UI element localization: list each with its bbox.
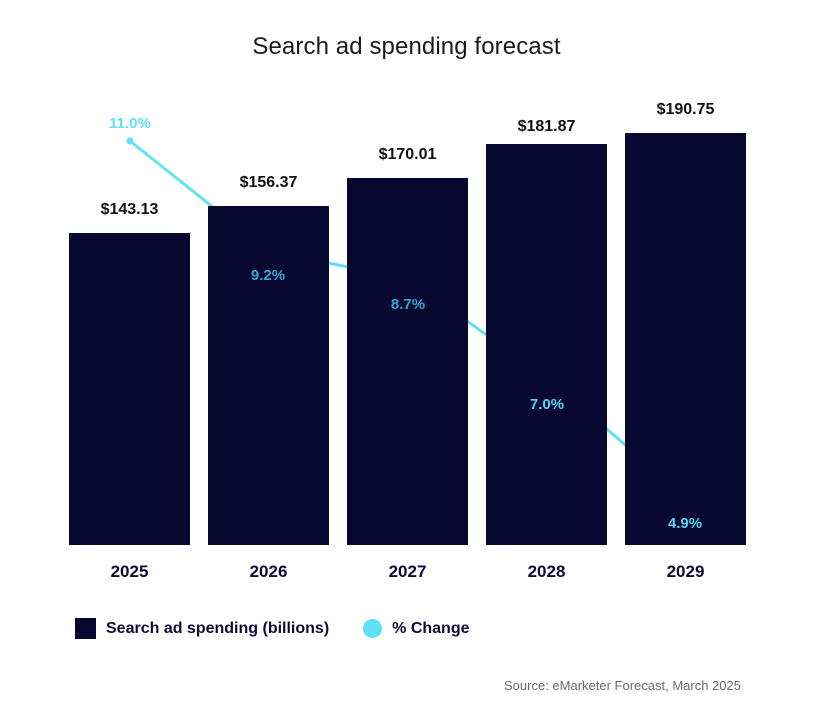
legend-item[interactable]: Search ad spending (billions) bbox=[75, 618, 329, 639]
percent-change-label: 9.2% bbox=[208, 267, 328, 284]
chart-container: Search ad spending forecast $143.13$156.… bbox=[0, 0, 813, 719]
percent-change-label: 8.7% bbox=[348, 296, 468, 313]
legend-square-icon bbox=[75, 618, 96, 639]
x-axis-tick-2025: 2025 bbox=[69, 562, 190, 582]
x-axis-tick-2026: 2026 bbox=[208, 562, 329, 582]
bar-value-label: $170.01 bbox=[347, 146, 468, 164]
line-marker-2025 bbox=[126, 137, 133, 144]
bar-2029 bbox=[625, 133, 746, 545]
bar-2025 bbox=[69, 233, 190, 545]
legend-label: % Change bbox=[392, 620, 469, 638]
chart-legend: Search ad spending (billions)% Change bbox=[75, 618, 469, 639]
bar-value-label: $181.87 bbox=[486, 118, 607, 136]
plot-area: $143.13$156.37$170.01$181.87$190.7511.0%… bbox=[0, 0, 813, 560]
bar-value-label: $156.37 bbox=[208, 174, 329, 192]
x-axis-tick-2028: 2028 bbox=[486, 562, 607, 582]
bar-2028 bbox=[486, 144, 607, 545]
legend-item[interactable]: % Change bbox=[363, 619, 469, 638]
x-axis-tick-2029: 2029 bbox=[625, 562, 746, 582]
x-axis-tick-2027: 2027 bbox=[347, 562, 468, 582]
bar-2027 bbox=[347, 178, 468, 545]
bar-2026 bbox=[208, 206, 329, 545]
percent-change-label: 4.9% bbox=[625, 515, 745, 532]
source-note: Source: eMarketer Forecast, March 2025 bbox=[504, 678, 741, 693]
bar-value-label: $190.75 bbox=[625, 101, 746, 119]
percent-change-label: 7.0% bbox=[487, 396, 607, 413]
percent-change-label: 11.0% bbox=[70, 115, 190, 132]
legend-label: Search ad spending (billions) bbox=[106, 620, 329, 638]
legend-circle-icon bbox=[363, 619, 382, 638]
bar-value-label: $143.13 bbox=[69, 201, 190, 219]
